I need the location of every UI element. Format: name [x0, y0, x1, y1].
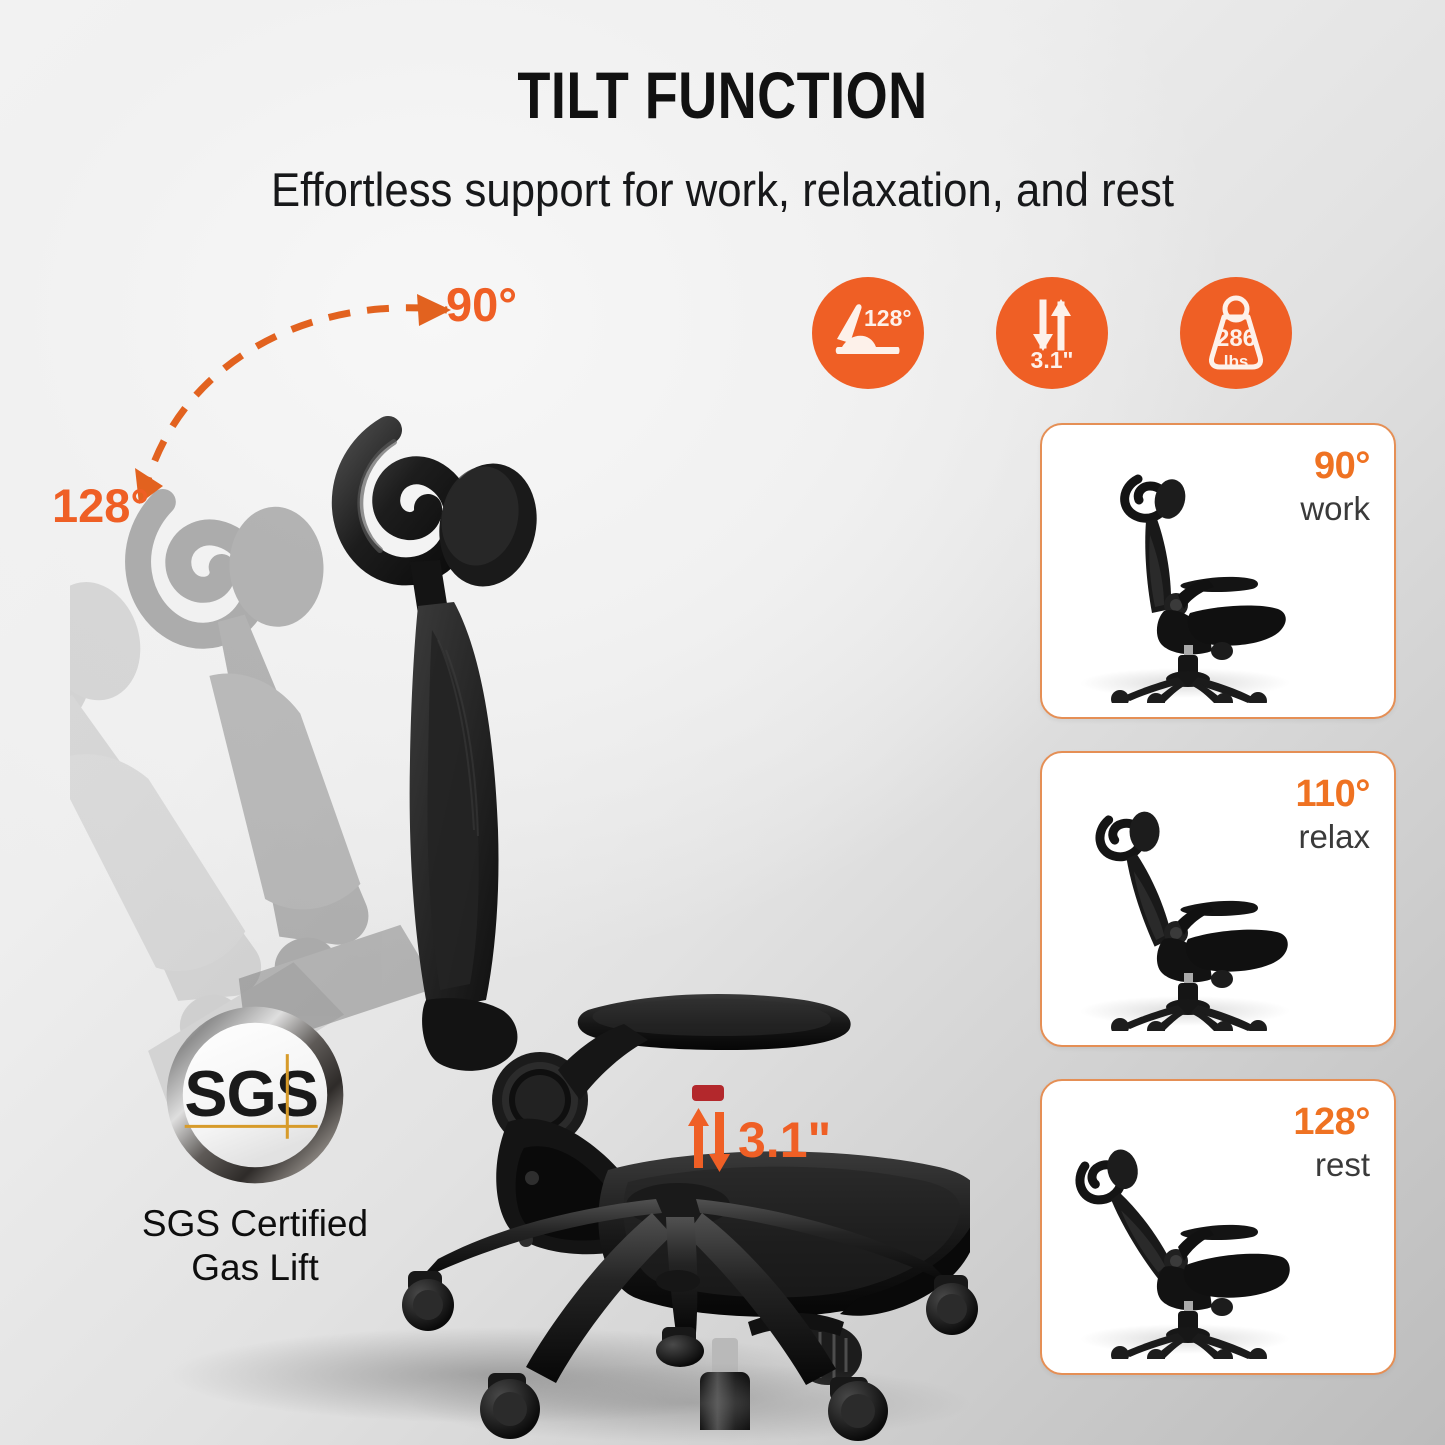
position-card-relax[interactable]: 110° relax [1040, 751, 1396, 1047]
badge-weight-capacity: 286 lbs [1180, 277, 1292, 389]
page-title: TILT FUNCTION [130, 62, 1315, 128]
position-mode: work [1300, 492, 1370, 525]
caster-wheel [402, 1271, 454, 1331]
annotation-height-lift: 3.1" [688, 1108, 831, 1172]
badge-height-adjust: 3.1" [996, 277, 1108, 389]
position-card-label: 90° work [1300, 447, 1370, 525]
position-card-work[interactable]: 90° work [1040, 423, 1396, 719]
position-angle: 90° [1300, 447, 1370, 485]
position-card-rest[interactable]: 128° rest [1040, 1079, 1396, 1375]
chair-base-assembly [380, 1155, 1000, 1445]
sgs-caption-line-1: SGS Certified [105, 1202, 405, 1246]
infographic-canvas: TILT FUNCTION Effortless support for wor… [0, 0, 1445, 1445]
chair-side-view-icon [1060, 783, 1310, 1031]
sgs-caption: SGS Certified Gas Lift [105, 1202, 405, 1289]
badge-weight-value: 286 [1180, 327, 1292, 351]
annotation-angle-min: 128° [52, 482, 149, 529]
sgs-certification-block: SGS SGS Certified Gas Lift [105, 1000, 405, 1289]
caster-wheel [926, 1275, 978, 1335]
up-down-arrow-icon [688, 1108, 732, 1172]
badge-height-value: 3.1" [996, 349, 1108, 372]
sgs-certification-seal-icon: SGS [160, 1000, 350, 1190]
page-subtitle: Effortless support for work, relaxation,… [51, 166, 1395, 213]
chair-side-view-icon [1060, 1111, 1310, 1359]
lift-value-label: 3.1" [738, 1115, 831, 1165]
sgs-caption-line-2: Gas Lift [105, 1246, 405, 1290]
annotation-angle-max: 90° [446, 281, 517, 328]
caster-wheel [656, 1327, 704, 1367]
chair-side-view-icon [1060, 455, 1310, 703]
badge-weight-unit: lbs [1180, 353, 1292, 370]
position-cards-group: 90° work [1040, 423, 1392, 1375]
svg-text:SGS: SGS [184, 1058, 318, 1130]
